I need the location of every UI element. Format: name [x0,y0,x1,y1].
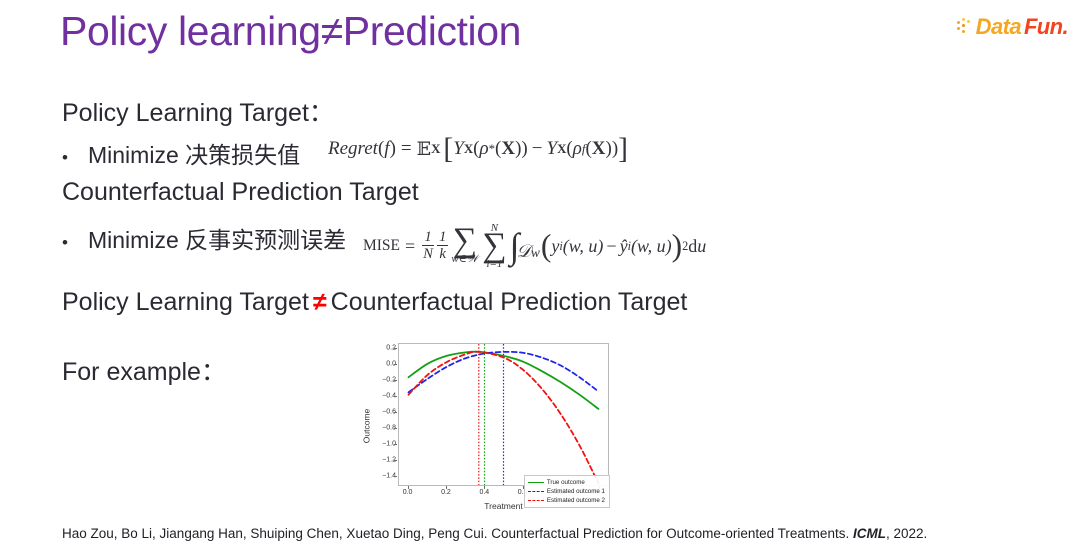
policy-learning-bullet-label: Minimize 决策损失值 [88,136,300,170]
chart-legend: True outcomeEstimated outcome 1Estimated… [524,475,610,508]
mise-open-paren: ( [541,235,552,258]
chart-y-tick-mark [394,460,397,461]
chart-y-tick-mark [394,412,397,413]
mise-integral-sub2: w [531,245,540,260]
outcome-vs-treatment-chart: Outcome Treatment 0.20.0−0.2−0.4−0.6−0.8… [355,340,613,512]
regret-term1-parens: )) [515,138,528,160]
regret-term1-sub: X [464,141,473,157]
mise-sum1-glyph: ∑ [453,228,477,254]
comparison-left-label: Policy Learning Target [62,288,309,317]
mise-du: du [688,236,706,257]
mise-term2: ŷ [620,236,628,257]
formula-regret: Regret(f) = 𝔼X [ YX(ρ*(X)) − YX(ρf(X)) ] [328,138,628,161]
mise-term1: y [551,236,559,257]
not-equal-icon: ≠ [309,288,331,317]
formula-mise: MISE = 1 N 1 k ∑ w∈𝒲 N ∑ i=1 ∫𝒟w ( yi(w,… [363,223,706,270]
citation-authors: Hao Zou, Bo Li, Jiangang Han, Shuiping C… [62,526,853,541]
chart-legend-swatch-icon [528,491,544,492]
chart-x-tick-label: 0.0 [403,489,413,496]
citation-caption: Hao Zou, Bo Li, Jiangang Han, Shuiping C… [62,526,927,541]
regret-rho-f: ρ [573,138,582,160]
regret-expectation-icon: 𝔼 [417,138,431,160]
mise-frac-1-over-k: 1 k [437,230,448,263]
regret-term2-X: X [592,138,606,160]
citation-year: , 2022. [886,526,927,541]
mise-sum-w: ∑ w∈𝒲 [451,228,478,265]
logo-text-data: Data [976,14,1021,40]
regret-term1-X: X [501,138,515,160]
regret-lhs: Regret [328,138,378,160]
mise-frac-1-over-N: 1 N [421,230,435,263]
comparison-line: Policy Learning Target ≠ Counterfactual … [62,288,687,317]
page-title: Policy learning≠Prediction [60,8,521,55]
mise-close-paren: ) [672,235,683,258]
chart-y-axis-label: Outcome [361,409,371,444]
mise-integral-sub: 𝒟w [516,246,539,257]
regret-term2-parens: )) [606,138,619,160]
regret-minus: − [528,138,547,160]
logo-text-fun: Fun. [1024,14,1068,40]
bullet-dot-icon: • [62,148,88,168]
slide-root: Policy learning≠Prediction DataFun. Poli… [0,0,1080,553]
chart-y-tick-mark [394,476,397,477]
regret-term2: Y [546,138,557,160]
mise-sum1-sub: w∈𝒲 [451,254,478,265]
chart-y-tick-mark [394,348,397,349]
mise-frac2-num: 1 [437,230,448,247]
chart-curves [399,344,608,485]
policy-learning-bullet: • Minimize 决策损失值 [62,136,300,170]
regret-term1: Y [453,138,464,160]
regret-rho-star: ρ [479,138,488,160]
mise-sum2-glyph: ∑ [482,233,506,259]
mise-frac1-den: N [421,246,435,262]
mise-minus: − [603,236,619,257]
comparison-right-label: Counterfactual Prediction Target [331,288,688,317]
chart-y-tick-mark [394,444,397,445]
chart-y-tick-mark [394,380,397,381]
regret-term2-sub: X [557,141,566,157]
chart-legend-label: True outcome [547,479,585,486]
chart-x-tick-label: 0.4 [479,489,489,496]
regret-open-bracket: [ [443,138,453,161]
chart-legend-swatch-icon [528,500,544,501]
datafun-logo: DataFun. [957,14,1068,40]
chart-legend-item: Estimated outcome 1 [528,488,605,495]
policy-learning-heading: Policy Learning Target： [62,93,334,129]
chart-x-tick-label: 0.2 [441,489,451,496]
chart-y-tick-mark [394,396,397,397]
chart-plot-area [398,343,609,486]
chart-y-tick-mark [394,428,397,429]
chart-legend-label: Estimated outcome 2 [547,497,605,504]
chart-y-tick-mark [394,364,397,365]
for-example-label: For example： [62,352,226,388]
counterfactual-heading: Counterfactual Prediction Target [62,178,419,207]
citation-venue: ICML [853,526,886,541]
logo-dots-icon [957,18,972,36]
chart-legend-label: Estimated outcome 1 [547,488,605,495]
mise-sum2-sub: i=1 [486,259,502,270]
chart-legend-item: True outcome [528,479,605,486]
mise-term1-arg: (w, u) [563,236,604,257]
mise-frac2-den: k [437,246,448,262]
counterfactual-bullet-label: Minimize 反事实预测误差 [88,221,346,255]
mise-sum-i: N ∑ i=1 [482,223,506,270]
chart-legend-swatch-icon [528,482,544,483]
mise-eq: = [400,236,420,257]
mise-frac1-num: 1 [422,230,433,247]
bullet-dot-icon: • [62,233,88,253]
mise-term2-arg: (w, u) [631,236,672,257]
counterfactual-bullet: • Minimize 反事实预测误差 [62,221,346,255]
regret-eq: = [396,138,417,160]
regret-expectation-sub: X [431,141,440,157]
mise-integral: ∫𝒟w [510,235,540,257]
chart-legend-item: Estimated outcome 2 [528,497,605,504]
chart-x-tick-mark [408,486,409,489]
mise-lhs: MISE [363,237,400,255]
chart-x-tick-mark [446,486,447,489]
regret-close-bracket: ] [618,138,628,161]
